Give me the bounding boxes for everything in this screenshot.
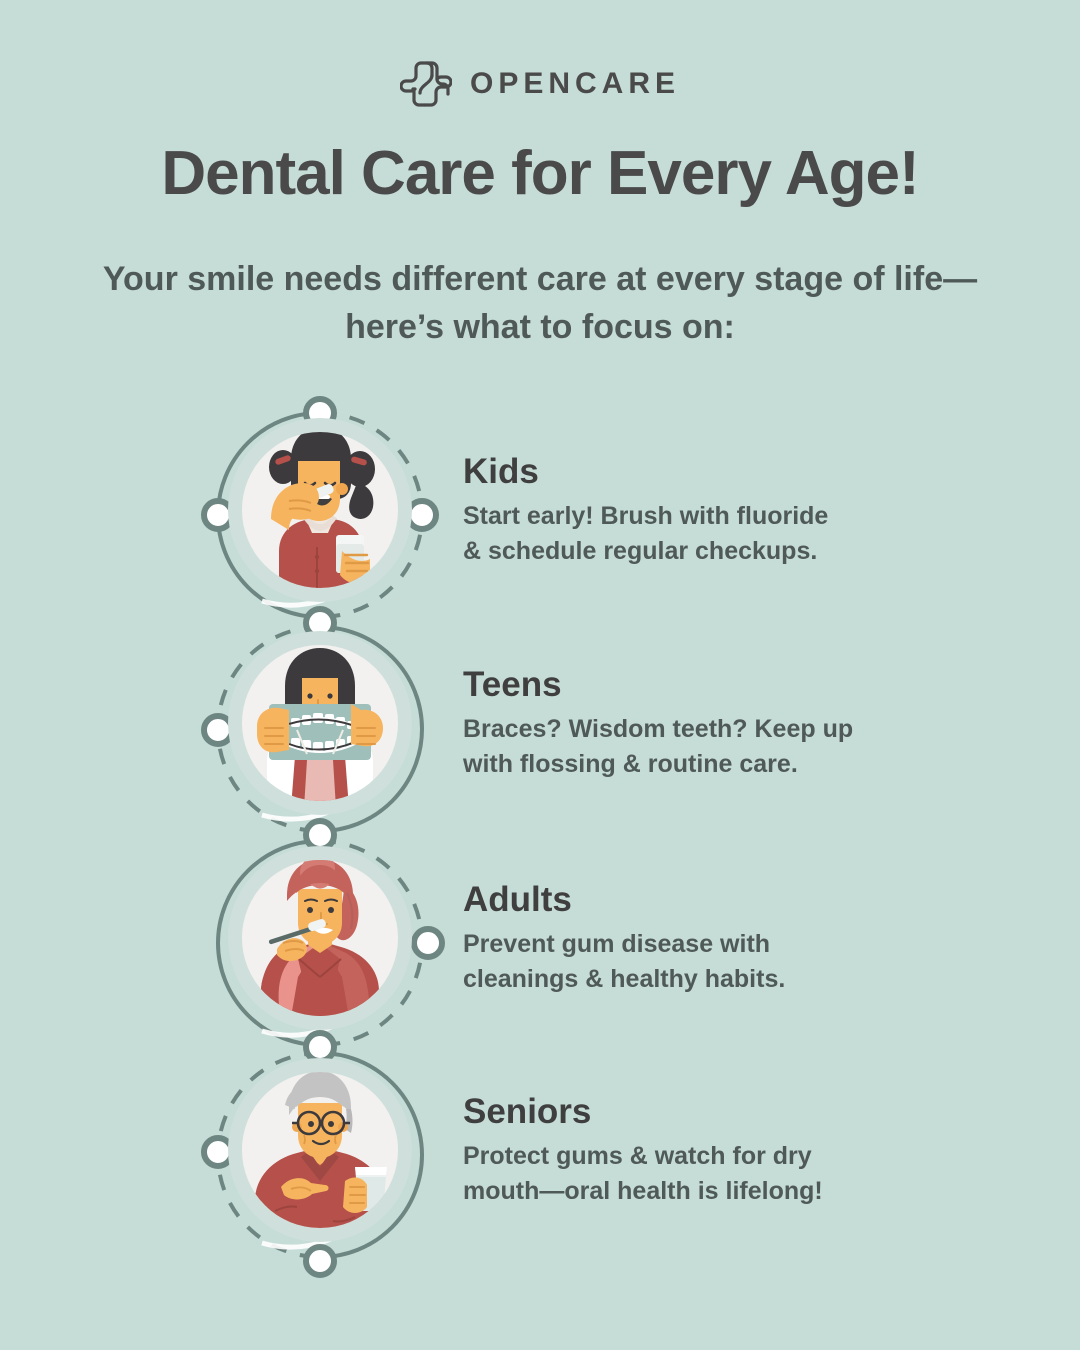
kids-copy: Kids Start early! Brush with fluoride & …: [463, 453, 903, 570]
opencare-cross-icon: [400, 58, 452, 110]
seniors-copy: Seniors Protect gums & watch for dry mou…: [463, 1093, 903, 1210]
brand-name: OPENCARE: [470, 69, 680, 99]
list-item: Seniors Protect gums & watch for dry mou…: [0, 1035, 1080, 1250]
teens-medallion: [205, 608, 435, 838]
life-stage-list: Kids Start early! Brush with fluoride & …: [0, 395, 1080, 1295]
kids-medallion: [205, 395, 435, 625]
kids-body: Start early! Brush with fluoride & sched…: [463, 499, 903, 570]
senior-with-water-glass-illustration: [205, 1035, 435, 1265]
child-brushing-teeth-illustration: [205, 395, 435, 625]
adults-medallion: [205, 823, 435, 1053]
adults-body: Prevent gum disease with cleanings & hea…: [463, 927, 903, 998]
adults-title: Adults: [463, 881, 903, 920]
adults-copy: Adults Prevent gum disease with cleaning…: [463, 881, 903, 998]
list-item: Adults Prevent gum disease with cleaning…: [0, 823, 1080, 1038]
adult-brushing-teeth-illustration: [205, 823, 435, 1053]
page-subtitle: Your smile needs different care at every…: [90, 255, 990, 352]
page-title: Dental Care for Every Age!: [0, 141, 1080, 208]
brand-header: OPENCARE: [0, 58, 1080, 110]
seniors-medallion: [205, 1035, 435, 1265]
infographic-page: OPENCARE Dental Care for Every Age! Your…: [0, 0, 1080, 1350]
seniors-title: Seniors: [463, 1093, 903, 1132]
kids-title: Kids: [463, 453, 903, 492]
teens-body: Braces? Wisdom teeth? Keep up with floss…: [463, 712, 903, 783]
seniors-body: Protect gums & watch for dry mouth—oral …: [463, 1139, 903, 1210]
teens-copy: Teens Braces? Wisdom teeth? Keep up with…: [463, 666, 903, 783]
list-item: Teens Braces? Wisdom teeth? Keep up with…: [0, 608, 1080, 823]
teens-title: Teens: [463, 666, 903, 705]
teen-holding-dental-xray-illustration: [205, 608, 435, 838]
list-item: Kids Start early! Brush with fluoride & …: [0, 395, 1080, 610]
